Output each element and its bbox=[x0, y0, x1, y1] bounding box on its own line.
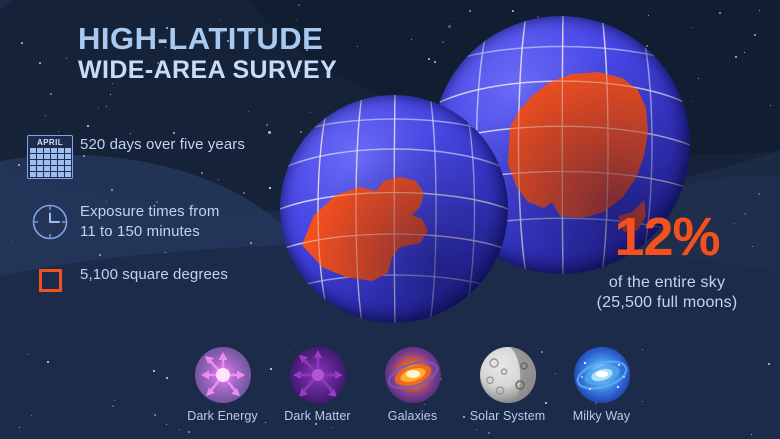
calendar-cell bbox=[30, 160, 36, 165]
title-line-1: HIGH-LATITUDE bbox=[78, 23, 337, 55]
science-target-label-dark-matter: Dark Matter bbox=[270, 409, 365, 423]
sky-coverage-caption-2: (25,500 full moons) bbox=[556, 293, 778, 313]
star bbox=[87, 125, 89, 127]
sky-coverage-caption-1: of the entire sky bbox=[556, 273, 778, 293]
star bbox=[751, 434, 752, 435]
fact-text-duration: 520 days over five years bbox=[80, 133, 245, 155]
calendar-cell bbox=[58, 172, 64, 177]
calendar-cell bbox=[51, 160, 57, 165]
milky-way-icon bbox=[574, 347, 630, 403]
fact-text-exposure: Exposure times from 11 to 150 minutes bbox=[80, 200, 219, 241]
science-target-label-solar-system: Solar System bbox=[460, 409, 555, 423]
science-target-label-galaxies: Galaxies bbox=[365, 409, 460, 423]
science-target-dark-energy[interactable]: Dark Energy bbox=[175, 347, 270, 423]
calendar-cell bbox=[65, 172, 71, 177]
infographic-root: HIGH-LATITUDE WIDE-AREA SURVEY APRIL 520… bbox=[0, 0, 780, 439]
sky-coverage-block: 12% of the entire sky (25,500 full moons… bbox=[556, 210, 778, 313]
star bbox=[296, 19, 297, 20]
star bbox=[39, 62, 41, 64]
calendar-cell bbox=[37, 172, 43, 177]
calendar-cell bbox=[37, 160, 43, 165]
star bbox=[50, 93, 52, 95]
calendar-cell bbox=[58, 154, 64, 159]
science-target-galaxies[interactable]: Galaxies bbox=[365, 347, 460, 423]
fact-exposure-line-1: Exposure times from bbox=[80, 202, 219, 222]
calendar-cell bbox=[37, 166, 43, 171]
star bbox=[298, 4, 300, 6]
calendar-cell bbox=[37, 154, 43, 159]
star bbox=[735, 56, 737, 58]
calendar-cell bbox=[58, 166, 64, 171]
calendar-cell bbox=[65, 148, 71, 153]
calendar-cell bbox=[51, 166, 57, 171]
calendar-cell bbox=[65, 160, 71, 165]
dark-matter-icon bbox=[290, 347, 346, 403]
calendar-month-label: APRIL bbox=[37, 138, 63, 147]
fact-duration-line-1: 520 days over five years bbox=[80, 135, 245, 155]
star bbox=[759, 10, 760, 11]
fact-item-area: 5,100 square degrees bbox=[20, 263, 310, 292]
sphere-front-rim bbox=[280, 95, 508, 323]
star bbox=[266, 124, 268, 126]
science-targets-row: Dark Energy Dark M bbox=[0, 342, 780, 434]
fact-text-area: 5,100 square degrees bbox=[80, 263, 228, 285]
calendar-cell bbox=[58, 148, 64, 153]
science-target-solar-system[interactable]: Solar System bbox=[460, 347, 555, 423]
calendar-cell bbox=[58, 160, 64, 165]
fact-item-exposure: Exposure times from 11 to 150 minutes bbox=[20, 200, 310, 242]
calendar-cell bbox=[51, 148, 57, 153]
calendar-cell bbox=[44, 148, 50, 153]
fact-exposure-line-2: 11 to 150 minutes bbox=[80, 222, 219, 242]
facts-list: APRIL 520 days over five years bbox=[20, 133, 310, 313]
star bbox=[512, 10, 514, 12]
celestial-sphere-front bbox=[280, 95, 508, 323]
star bbox=[469, 10, 471, 12]
calendar-cell bbox=[30, 166, 36, 171]
galaxies-icon bbox=[385, 347, 441, 403]
title-line-2: WIDE-AREA SURVEY bbox=[78, 57, 337, 85]
star bbox=[428, 58, 430, 60]
calendar-cell bbox=[44, 166, 50, 171]
sky-coverage-percent: 12% bbox=[556, 210, 778, 264]
calendar-cell bbox=[30, 172, 36, 177]
star bbox=[754, 34, 756, 36]
science-target-label-milky-way: Milky Way bbox=[554, 409, 649, 423]
solar-system-icon bbox=[480, 347, 536, 403]
science-target-label-dark-energy: Dark Energy bbox=[175, 409, 270, 423]
star bbox=[692, 101, 693, 102]
calendar-cell bbox=[30, 154, 36, 159]
calendar-cell bbox=[44, 154, 50, 159]
calendar-cell bbox=[51, 172, 57, 177]
calendar-cell bbox=[44, 160, 50, 165]
calendar-cell bbox=[65, 154, 71, 159]
calendar-cell bbox=[51, 154, 57, 159]
science-target-milky-way[interactable]: Milky Way bbox=[554, 347, 649, 423]
star bbox=[719, 12, 721, 14]
star bbox=[744, 52, 745, 53]
calendar-grid bbox=[30, 148, 71, 177]
clock-icon bbox=[20, 200, 80, 242]
calendar-cell bbox=[44, 172, 50, 177]
fact-item-duration: APRIL 520 days over five years bbox=[20, 133, 310, 179]
star bbox=[698, 78, 699, 79]
calendar-cell bbox=[30, 148, 36, 153]
orange-square-icon bbox=[20, 263, 80, 292]
science-target-dark-matter[interactable]: Dark Matter bbox=[270, 347, 365, 423]
page-title: HIGH-LATITUDE WIDE-AREA SURVEY bbox=[78, 23, 337, 84]
calendar-icon: APRIL bbox=[20, 133, 80, 179]
calendar-cell bbox=[37, 148, 43, 153]
fact-area-line-1: 5,100 square degrees bbox=[80, 265, 228, 285]
calendar-cell bbox=[65, 166, 71, 171]
dark-energy-icon bbox=[195, 347, 251, 403]
